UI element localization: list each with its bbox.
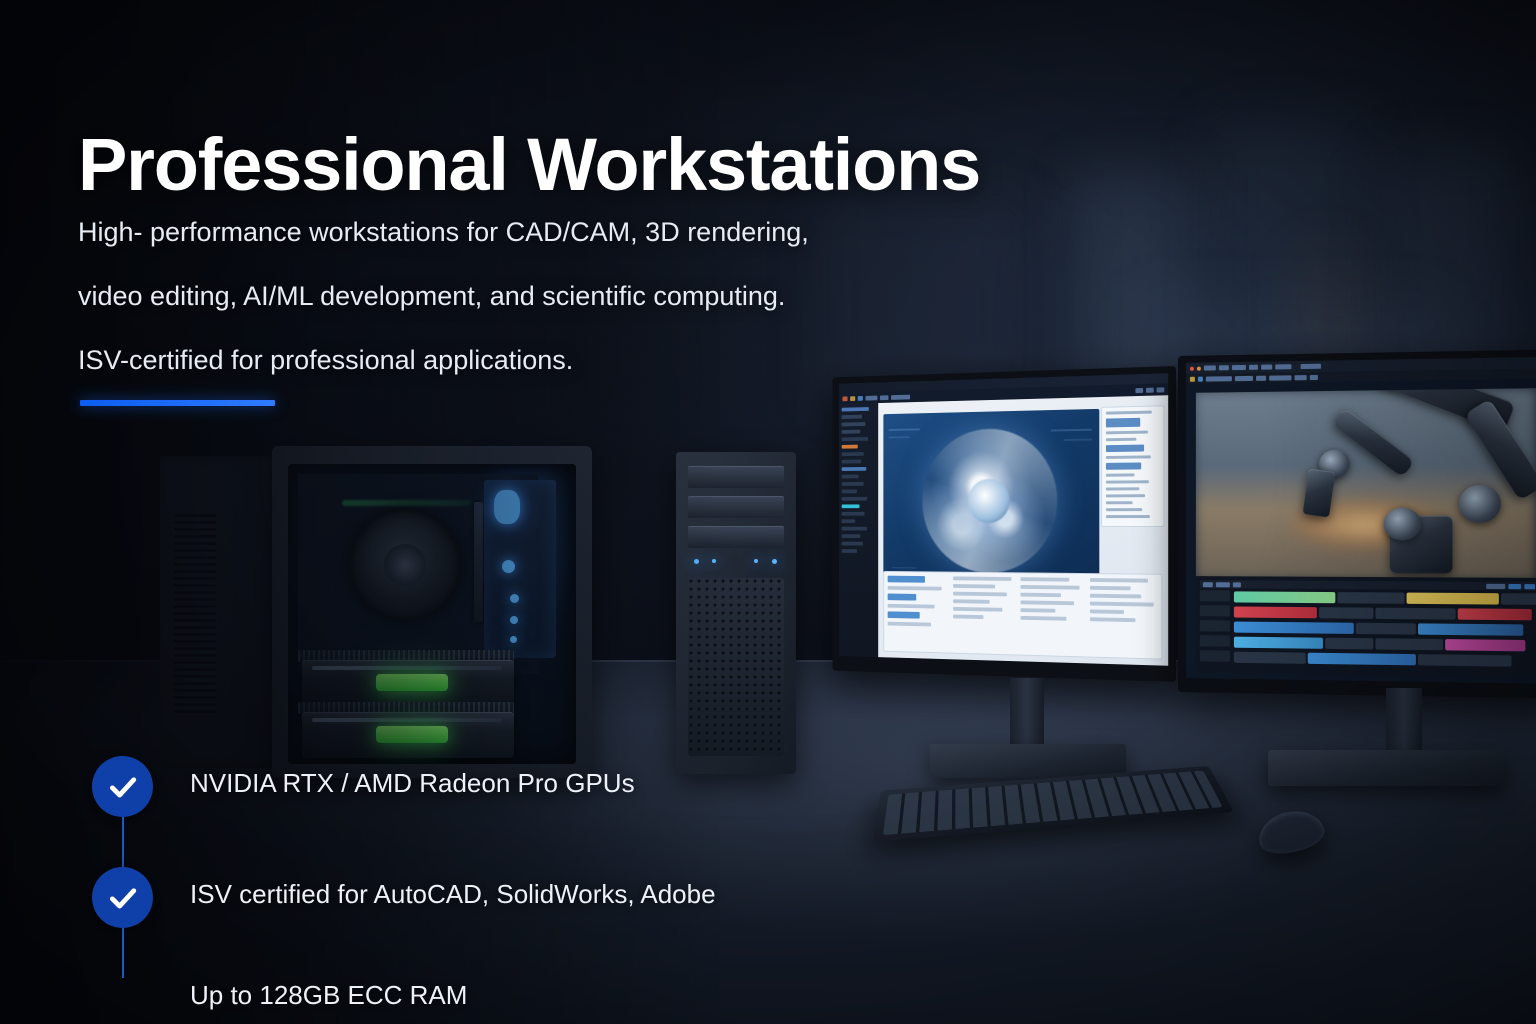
toolbar-chip [880,395,889,400]
timeline-track [1234,606,1536,620]
monitor-bezel [1178,349,1536,698]
subtitle-line-1: High- performance workstations for CAD/C… [78,200,1078,264]
cad-3d-viewport [883,409,1099,592]
toolbar-chip [865,395,877,400]
cad-workspace [839,395,1168,666]
monitor-bezel [832,366,1176,682]
cad-canvas [878,395,1168,666]
timeline-track-names [1200,590,1230,666]
check-icon [106,770,140,804]
feature-label: Up to 128GB ECC RAM [190,980,467,1011]
hero-banner: Professional Workstations High- performa… [0,0,1536,1024]
video-preview-panel [1196,388,1536,581]
subtitle-line-2: video editing, AI/ML development, and sc… [78,264,1078,328]
timeline-track [1234,622,1536,636]
check-icon-circle [92,867,153,928]
accent-divider [80,400,275,406]
cad-application-screen [839,373,1168,666]
feature-connector-line [122,817,124,867]
monitor-cad [832,366,1176,682]
monitor-video-editor [1178,349,1536,698]
subtitle-line-3: ISV-certified for professional applicati… [78,328,1078,392]
cad-properties-panel [1101,405,1164,527]
toolbar-chip [858,396,863,401]
monitor-base [930,744,1126,778]
feature-label: ISV certified for AutoCAD, SolidWorks, A… [190,879,716,910]
video-editor-screen [1186,357,1536,684]
timeline-toolbar [1200,580,1536,590]
toolbar-chip [1135,387,1143,392]
engine-3d-model [922,427,1057,573]
robot-arm-joint [1459,485,1501,523]
toolbar-chip [850,396,855,401]
toolbar-chip [1146,387,1154,392]
timeline-track [1234,652,1536,667]
toolbar-chip [843,396,848,401]
cad-bottom-panels [883,571,1162,660]
feature-label: NVIDIA RTX / AMD Radeon Pro GPUs [190,768,635,799]
timeline-track [1234,591,1536,604]
feature-connector-line [122,928,124,978]
hero-subtitle: High- performance workstations for CAD/C… [78,200,1078,392]
cad-sidebar [839,403,878,657]
toolbar-chip [891,394,910,399]
monitor-neck [1010,678,1044,750]
page-title: Professional Workstations [78,128,980,202]
check-icon [106,881,140,915]
monitor-base [1268,750,1504,786]
monitor-neck [1386,688,1422,758]
video-timeline-panel [1196,576,1536,677]
timeline-track [1234,637,1536,652]
engine-core [968,479,1009,523]
check-icon-circle [92,756,153,817]
toolbar-chip [1157,387,1165,392]
robot-arm-joint [1384,508,1422,540]
